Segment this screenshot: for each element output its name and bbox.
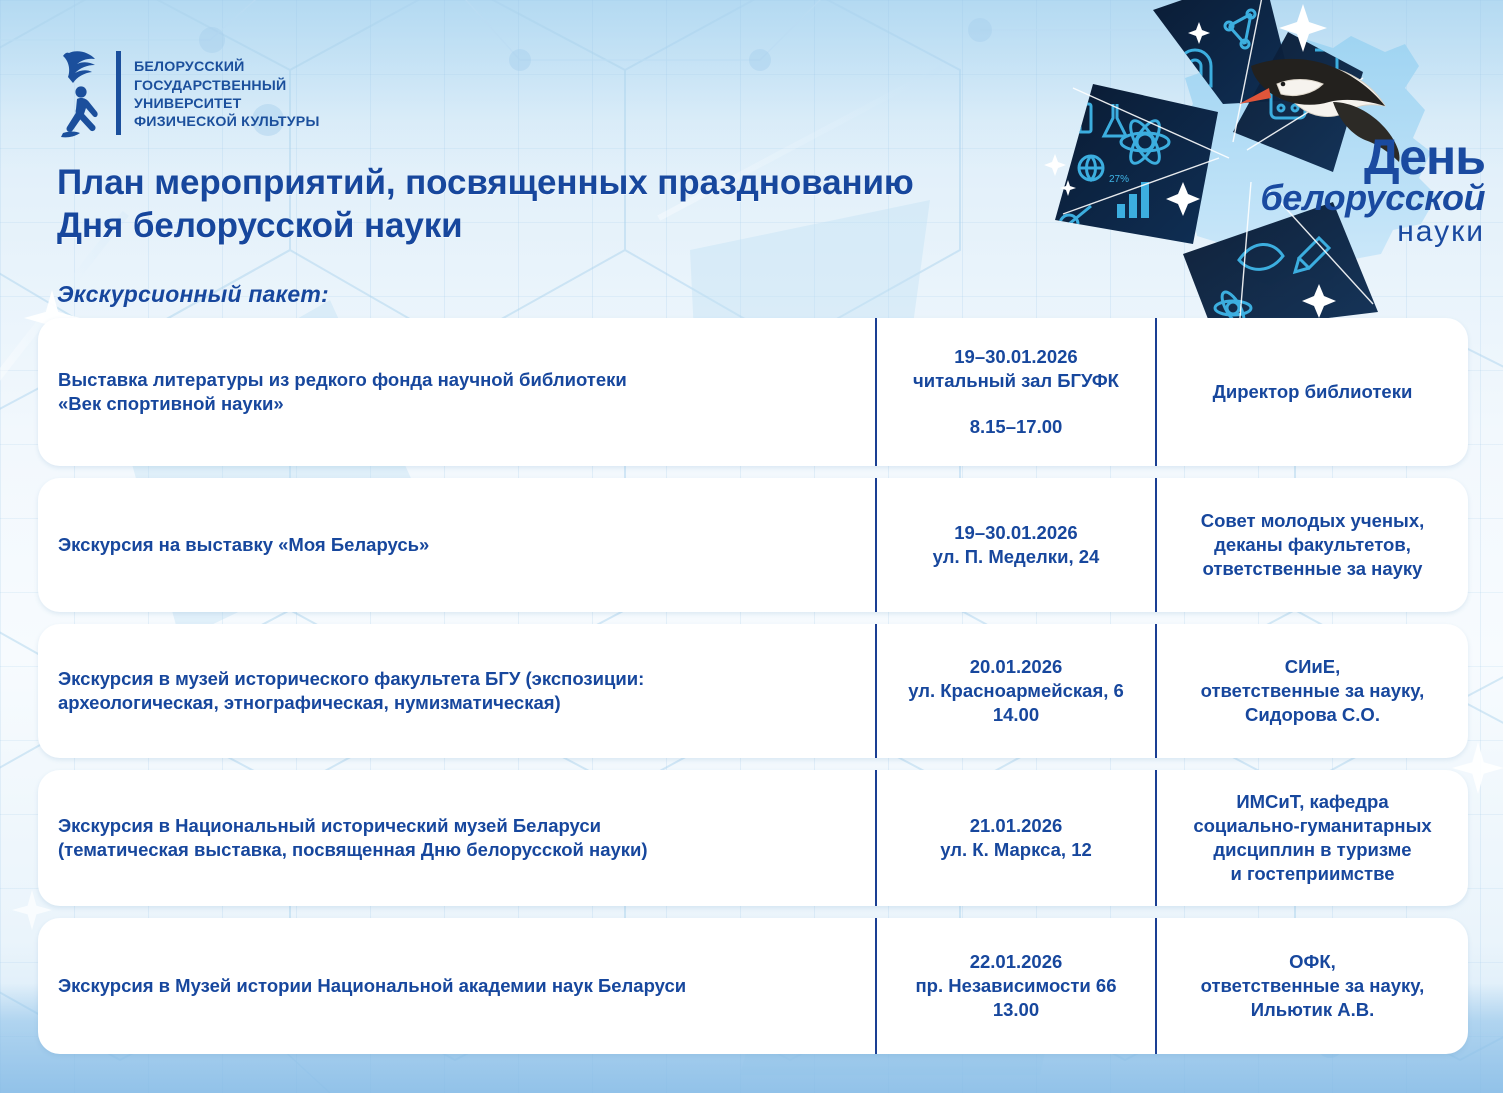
table-row[interactable]: Экскурсия в Национальный исторический му… [38, 770, 1468, 906]
events-table: Выставка литературы из редкого фонда нау… [38, 318, 1468, 1066]
university-name-line-3: УНИВЕРСИТЕТ [134, 95, 320, 113]
responsible-name: ИМСиТ, кафедра социально-гуманитарных ди… [1193, 790, 1431, 886]
day-of-belarusian-science-emblem: 27% [1033, 0, 1503, 322]
university-name-line-2: ГОСУДАРСТВЕННЫЙ [134, 77, 320, 95]
responsible-cell: ИМСиТ, кафедра социально-гуманитарных ди… [1155, 770, 1468, 906]
university-name-line-1: БЕЛОРУССКИЙ [134, 58, 320, 76]
responsible-name: СИиЕ, ответственные за науку, Сидорова С… [1201, 655, 1425, 727]
event-name: Выставка литературы из редкого фонда нау… [58, 368, 627, 415]
university-name-line-4: ФИЗИЧЕСКОЙ КУЛЬТУРЫ [134, 113, 320, 131]
emblem-line-2: белорусской [1235, 180, 1485, 216]
table-row[interactable]: Экскурсия на выставку «Моя Беларусь» 19–… [38, 478, 1468, 612]
page-title-line-1: План мероприятий, посвященных празднован… [57, 162, 914, 205]
table-row[interactable]: Экскурсия в Музей истории Национальной а… [38, 918, 1468, 1054]
responsible-cell: Совет молодых ученых, деканы факультетов… [1155, 478, 1468, 612]
datetime-cell: 19–30.01.2026 ул. П. Меделки, 24 [875, 478, 1155, 612]
event-name: Экскурсия в Музей истории Национальной а… [58, 974, 686, 998]
event-datetime: 19–30.01.2026 читальный зал БГУФК [913, 345, 1119, 393]
event-cell: Экскурсия в Музей истории Национальной а… [38, 918, 875, 1054]
emblem-chart-label: 27% [1109, 174, 1129, 185]
table-row[interactable]: Экскурсия в музей исторического факульте… [38, 624, 1468, 758]
event-datetime: 22.01.2026 пр. Независимости 66 13.00 [916, 950, 1117, 1022]
event-name: Экскурсия в музей исторического факульте… [58, 667, 644, 714]
responsible-cell: Директор библиотеки [1155, 318, 1468, 466]
responsible-name: Совет молодых ученых, деканы факультетов… [1201, 509, 1425, 581]
datetime-cell: 20.01.2026 ул. Красноармейская, 6 14.00 [875, 624, 1155, 758]
event-cell: Экскурсия на выставку «Моя Беларусь» [38, 478, 875, 612]
datetime-cell: 21.01.2026 ул. К. Маркса, 12 [875, 770, 1155, 906]
event-datetime: 19–30.01.2026 ул. П. Меделки, 24 [933, 521, 1100, 569]
emblem-line-3: науки [1235, 217, 1485, 247]
university-logo: БЕЛОРУССКИЙ ГОСУДАРСТВЕННЫЙ УНИВЕРСИТЕТ … [55, 47, 320, 143]
responsible-name: Директор библиотеки [1213, 380, 1413, 404]
logo-divider-bar [116, 51, 121, 135]
page-title: План мероприятий, посвященных празднован… [57, 162, 914, 247]
poster-canvas: БЕЛОРУССКИЙ ГОСУДАРСТВЕННЫЙ УНИВЕРСИТЕТ … [0, 0, 1503, 1093]
event-name: Экскурсия на выставку «Моя Беларусь» [58, 533, 429, 557]
responsible-name: ОФК, ответственные за науку, Ильютик А.В… [1201, 950, 1425, 1022]
event-name: Экскурсия в Национальный исторический му… [58, 814, 648, 861]
event-datetime: 20.01.2026 ул. Красноармейская, 6 14.00 [908, 655, 1124, 727]
event-cell: Выставка литературы из редкого фонда нау… [38, 318, 875, 466]
table-row[interactable]: Выставка литературы из редкого фонда нау… [38, 318, 1468, 466]
datetime-cell: 19–30.01.2026 читальный зал БГУФК 8.15–1… [875, 318, 1155, 466]
event-time: 8.15–17.00 [970, 415, 1063, 439]
page-subtitle: Экскурсионный пакет: [57, 281, 329, 308]
university-name: БЕЛОРУССКИЙ ГОСУДАРСТВЕННЫЙ УНИВЕРСИТЕТ … [134, 58, 320, 132]
emblem-line-1: День [1235, 134, 1485, 182]
event-cell: Экскурсия в Национальный исторический му… [38, 770, 875, 906]
emblem-wordmark: День белорусской науки [1235, 134, 1485, 247]
datetime-cell: 22.01.2026 пр. Независимости 66 13.00 [875, 918, 1155, 1054]
responsible-cell: ОФК, ответственные за науку, Ильютик А.В… [1155, 918, 1468, 1054]
event-cell: Экскурсия в музей исторического факульте… [38, 624, 875, 758]
page-title-line-2: Дня белорусской науки [57, 205, 914, 248]
event-datetime: 21.01.2026 ул. К. Маркса, 12 [940, 814, 1092, 862]
responsible-cell: СИиЕ, ответственные за науку, Сидорова С… [1155, 624, 1468, 758]
athlete-torch-icon [55, 47, 107, 143]
